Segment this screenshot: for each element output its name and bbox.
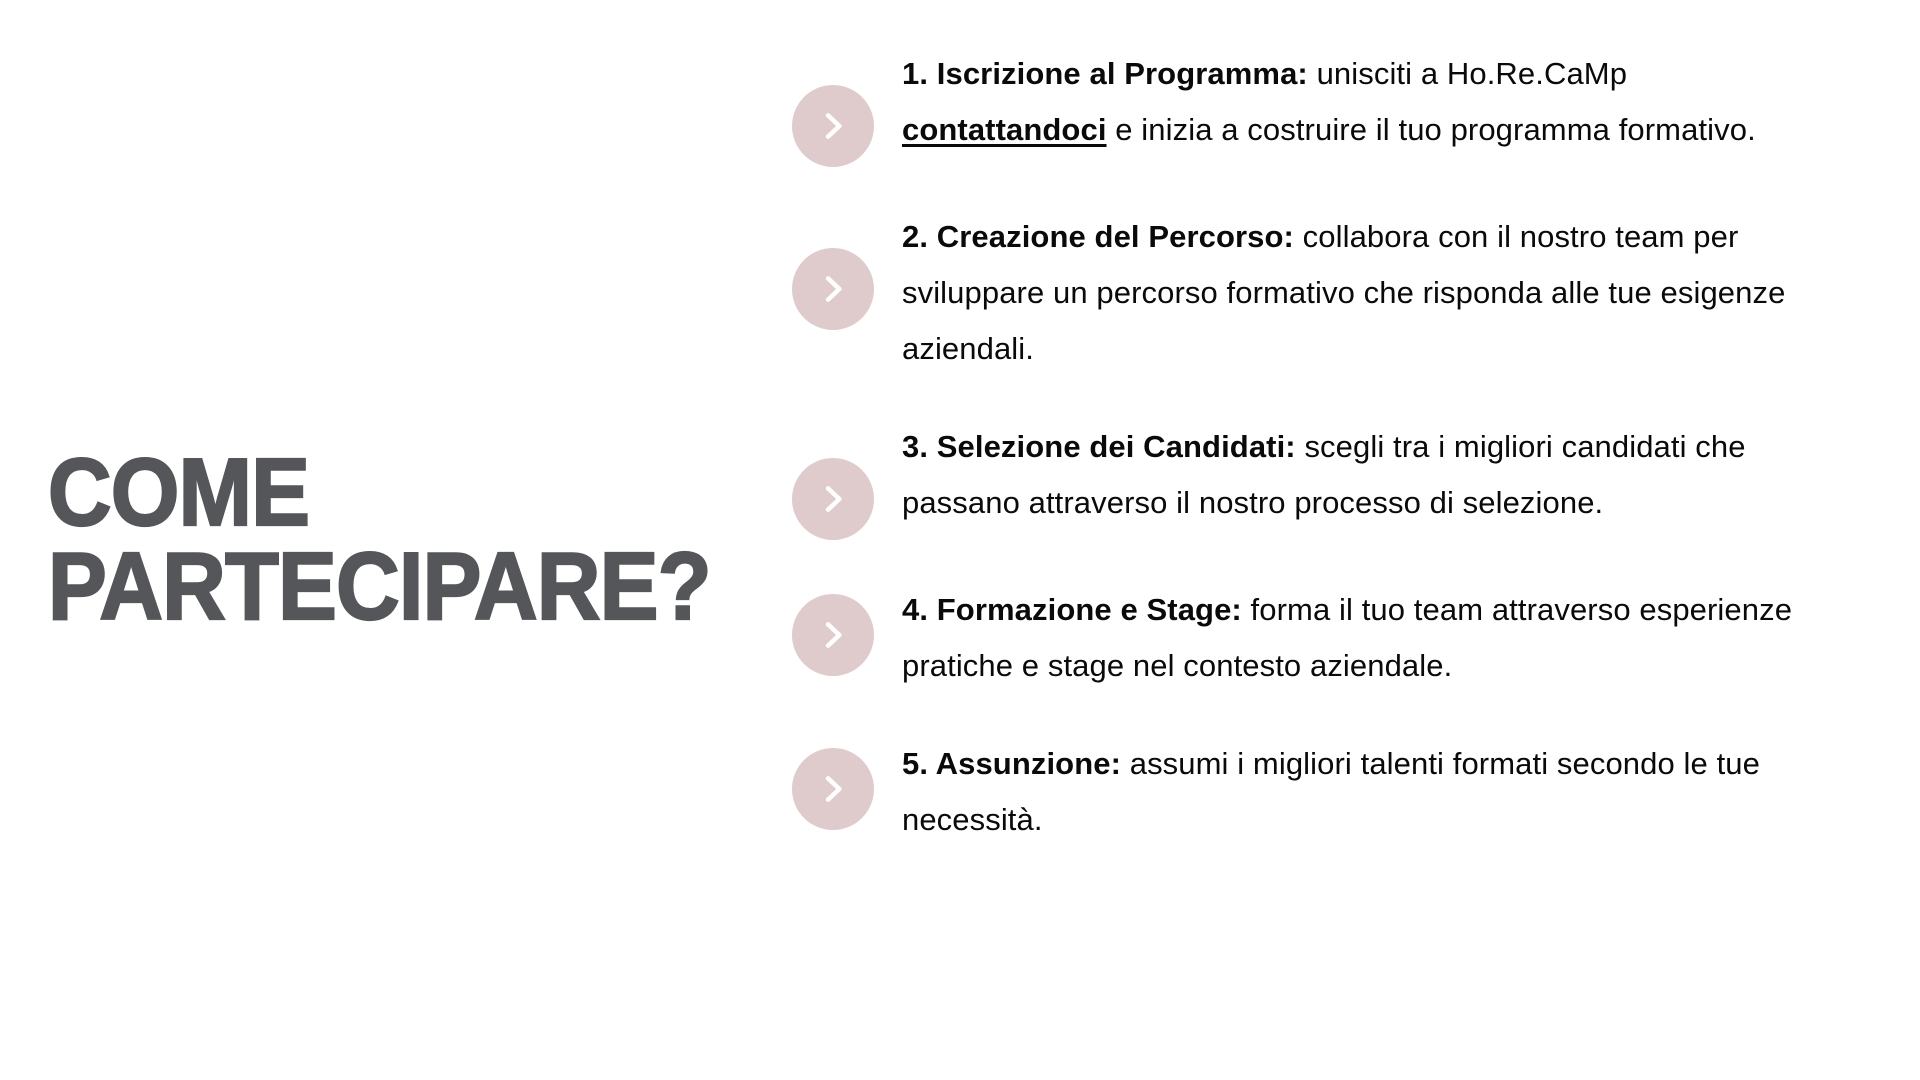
- page-title: COME PARTECIPARE?: [0, 446, 711, 634]
- step-text: 1. Iscrizione al Programma: unisciti a H…: [876, 46, 1802, 158]
- steps-list: 1. Iscrizione al Programma: unisciti a H…: [790, 46, 1814, 848]
- bullet-wrap: [790, 209, 876, 330]
- bullet-wrap: [790, 419, 876, 540]
- steps-column: 1. Iscrizione al Programma: unisciti a H…: [790, 0, 1920, 1080]
- heading-column: COME PARTECIPARE?: [0, 0, 790, 1080]
- list-item: 2. Creazione del Percorso: collabora con…: [790, 209, 1814, 377]
- list-item: 4. Formazione e Stage: forma il tuo team…: [790, 582, 1814, 694]
- step-text: 3. Selezione dei Candidati: scegli tra i…: [876, 419, 1802, 531]
- chevron-right-icon: [816, 109, 850, 143]
- step-title: 5. Assunzione:: [902, 746, 1121, 781]
- chevron-right-icon: [816, 482, 850, 516]
- slide-root: COME PARTECIPARE? 1. Iscrizione al Progr…: [0, 0, 1920, 1080]
- contact-link[interactable]: contattandoci: [902, 112, 1107, 147]
- chevron-right-icon: [816, 772, 850, 806]
- step-title: 2. Creazione del Percorso:: [902, 219, 1294, 254]
- step-title: 4. Formazione e Stage:: [902, 592, 1242, 627]
- chevron-right-icon: [816, 272, 850, 306]
- step-body-after: e inizia a costruire il tuo programma fo…: [1107, 112, 1756, 147]
- bullet-circle: [792, 748, 874, 830]
- bullet-circle: [792, 458, 874, 540]
- bullet-circle: [792, 248, 874, 330]
- bullet-wrap: [790, 736, 876, 830]
- list-item: 1. Iscrizione al Programma: unisciti a H…: [790, 46, 1814, 167]
- list-item: 3. Selezione dei Candidati: scegli tra i…: [790, 419, 1814, 540]
- bullet-circle: [792, 85, 874, 167]
- step-title: 3. Selezione dei Candidati:: [902, 429, 1296, 464]
- step-text: 4. Formazione e Stage: forma il tuo team…: [876, 582, 1802, 694]
- step-title: 1. Iscrizione al Programma:: [902, 56, 1308, 91]
- bullet-circle: [792, 594, 874, 676]
- step-body-before: unisciti a Ho.Re.CaMp: [1308, 56, 1627, 91]
- chevron-right-icon: [816, 618, 850, 652]
- step-text: 2. Creazione del Percorso: collabora con…: [876, 209, 1802, 377]
- bullet-wrap: [790, 582, 876, 676]
- list-item: 5. Assunzione: assumi i migliori talenti…: [790, 736, 1814, 848]
- bullet-wrap: [790, 46, 876, 167]
- step-text: 5. Assunzione: assumi i migliori talenti…: [876, 736, 1802, 848]
